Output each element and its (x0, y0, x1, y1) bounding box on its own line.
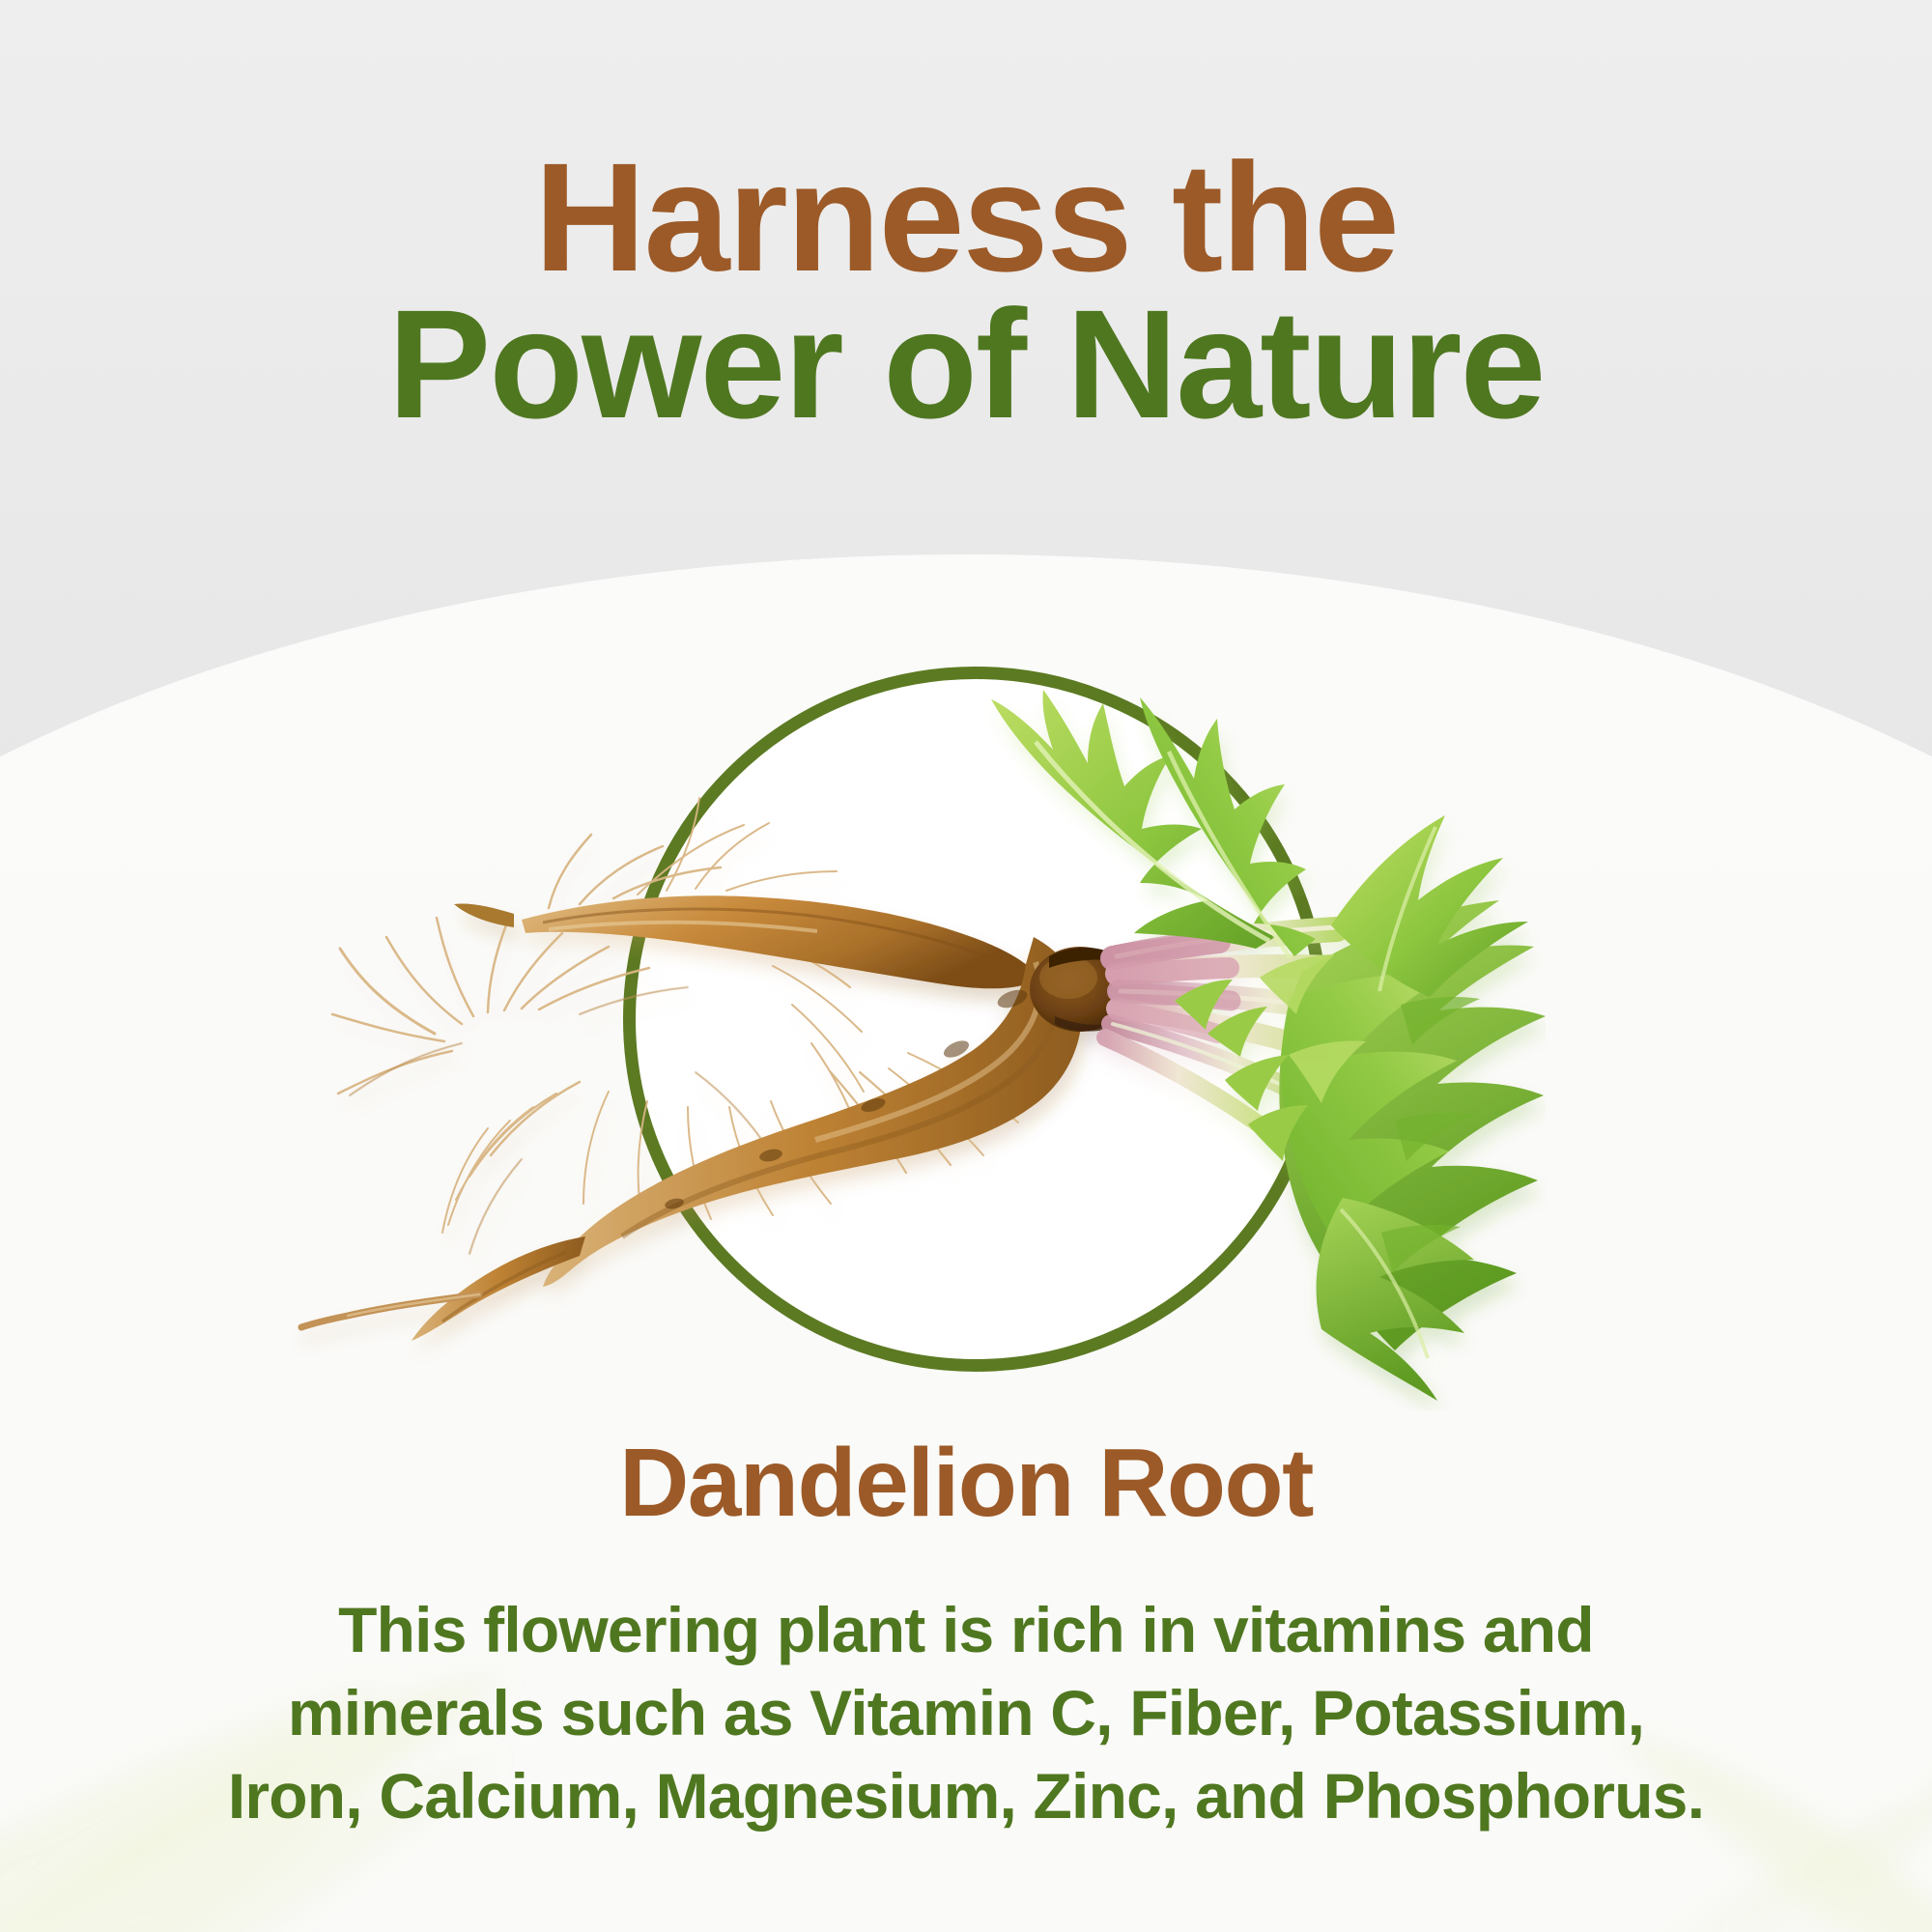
plant-group (301, 690, 1546, 1401)
promo-poster: Harness the Power of Nature (0, 0, 1932, 1932)
root-system (301, 798, 1082, 1341)
headline-line-1: Harness the (0, 143, 1932, 292)
description-line-2: minerals such as Vitamin C, Fiber, Potas… (135, 1672, 1797, 1755)
ingredient-title: Dandelion Root (0, 1428, 1932, 1539)
description-line-3: Iron, Calcium, Magnesium, Zinc, and Phos… (135, 1755, 1797, 1838)
dandelion-plant-image (290, 618, 1546, 1410)
root-branch-upper (522, 895, 1039, 988)
ingredient-description: This flowering plant is rich in vitamins… (135, 1589, 1797, 1837)
headline-line-2: Power of Nature (0, 290, 1932, 439)
description-line-1: This flowering plant is rich in vitamins… (135, 1589, 1797, 1672)
